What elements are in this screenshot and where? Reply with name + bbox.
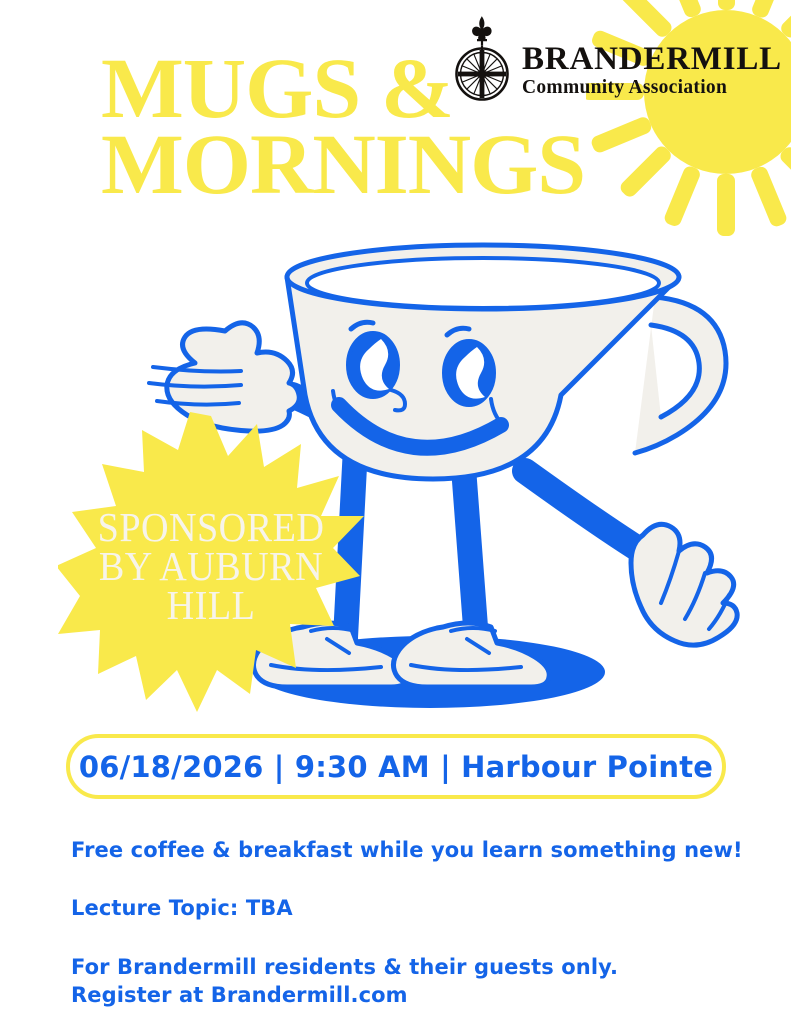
detail-line-4: Register at Brandermill.com [71,981,751,1009]
detail-line-3: For Brandermill residents & their guests… [71,953,751,981]
sponsor-line-3: HILL [69,586,354,625]
event-details-banner: 06/18/2026 | 9:30 AM | Harbour Pointe [66,734,726,799]
detail-line-2: Lecture Topic: TBA [71,894,751,922]
sponsor-badge: SPONSORED BY AUBURN HILL [58,412,364,720]
spacer [71,923,751,953]
flyer-page: BRANDERMILL Community Association MUGS &… [0,0,791,1024]
title-line-2: MORNINGS [101,128,672,200]
title-line-1: MUGS & [101,52,672,124]
sponsor-line-2: BY AUBURN [69,547,354,586]
event-details-text: 06/18/2026 | 9:30 AM | Harbour Pointe [79,750,713,784]
page-title: MUGS & MORNINGS [101,52,661,200]
sponsor-badge-text: SPONSORED BY AUBURN HILL [69,508,354,625]
spacer [71,864,751,894]
sponsor-line-1: SPONSORED [69,508,354,547]
detail-line-1: Free coffee & breakfast while you learn … [71,836,751,864]
details-section: Free coffee & breakfast while you learn … [71,836,751,1009]
